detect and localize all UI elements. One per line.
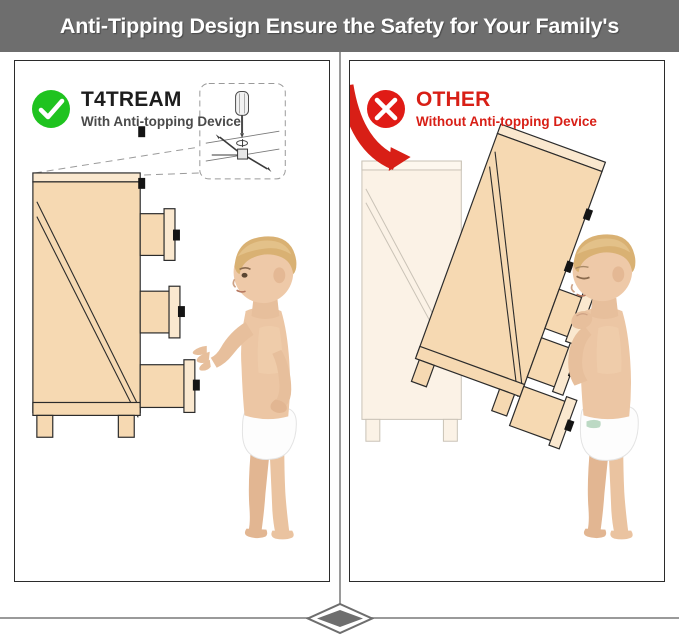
child-figure-good xyxy=(193,236,297,539)
brand-subtitle-good: With Anti-topping Device xyxy=(81,115,241,129)
panel-good-heading: T4TREAM With Anti-topping Device xyxy=(31,89,241,129)
green-check-circle-icon xyxy=(31,89,71,129)
brand-subtitle-bad: Without Anti-topping Device xyxy=(416,115,597,129)
diamond-separator-icon xyxy=(306,602,374,635)
red-x-circle-icon xyxy=(366,89,406,129)
header-banner: Anti-Tipping Design Ensure the Safety fo… xyxy=(0,0,679,52)
bottom-rule-left xyxy=(0,617,311,619)
center-divider xyxy=(339,52,341,618)
brand-name-good: T4TREAM xyxy=(81,89,241,111)
brand-name-bad: OTHER xyxy=(416,89,597,111)
panel-bad: OTHER Without Anti-topping Device xyxy=(349,60,665,582)
bottom-rule-right xyxy=(369,617,679,619)
illustration-good xyxy=(15,61,329,581)
panel-good: T4TREAM With Anti-topping Device xyxy=(14,60,330,582)
child-figure-bad xyxy=(568,234,638,539)
page-title: Anti-Tipping Design Ensure the Safety fo… xyxy=(60,14,619,39)
panel-bad-heading: OTHER Without Anti-topping Device xyxy=(366,89,597,129)
illustration-bad xyxy=(350,61,664,581)
